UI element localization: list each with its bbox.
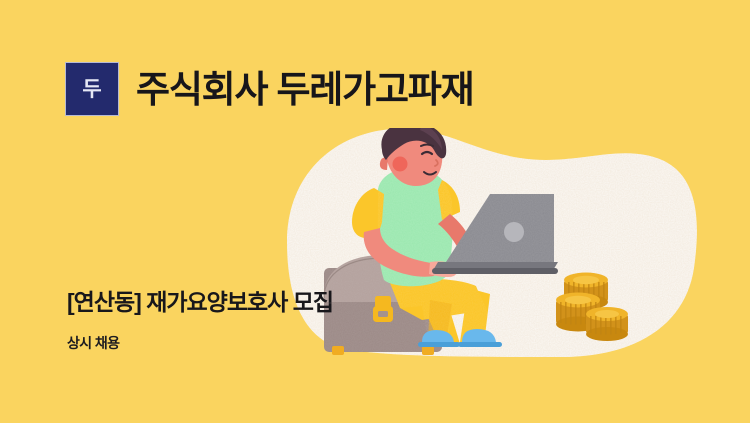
employment-type-label: 상시 채용 — [67, 336, 119, 351]
job-posting-banner: 두 주식회사 두레가고파재 — [0, 0, 750, 423]
coin-stacks — [556, 273, 628, 342]
person-working-on-laptop-illustration — [318, 128, 648, 360]
company-name: 주식회사 두레가고파재 — [136, 71, 473, 108]
company-logo-badge: 두 — [65, 62, 119, 116]
banner-header: 두 주식회사 두레가고파재 — [65, 62, 473, 116]
job-title: [연산동] 재가요양보호사 모집 — [67, 290, 333, 315]
